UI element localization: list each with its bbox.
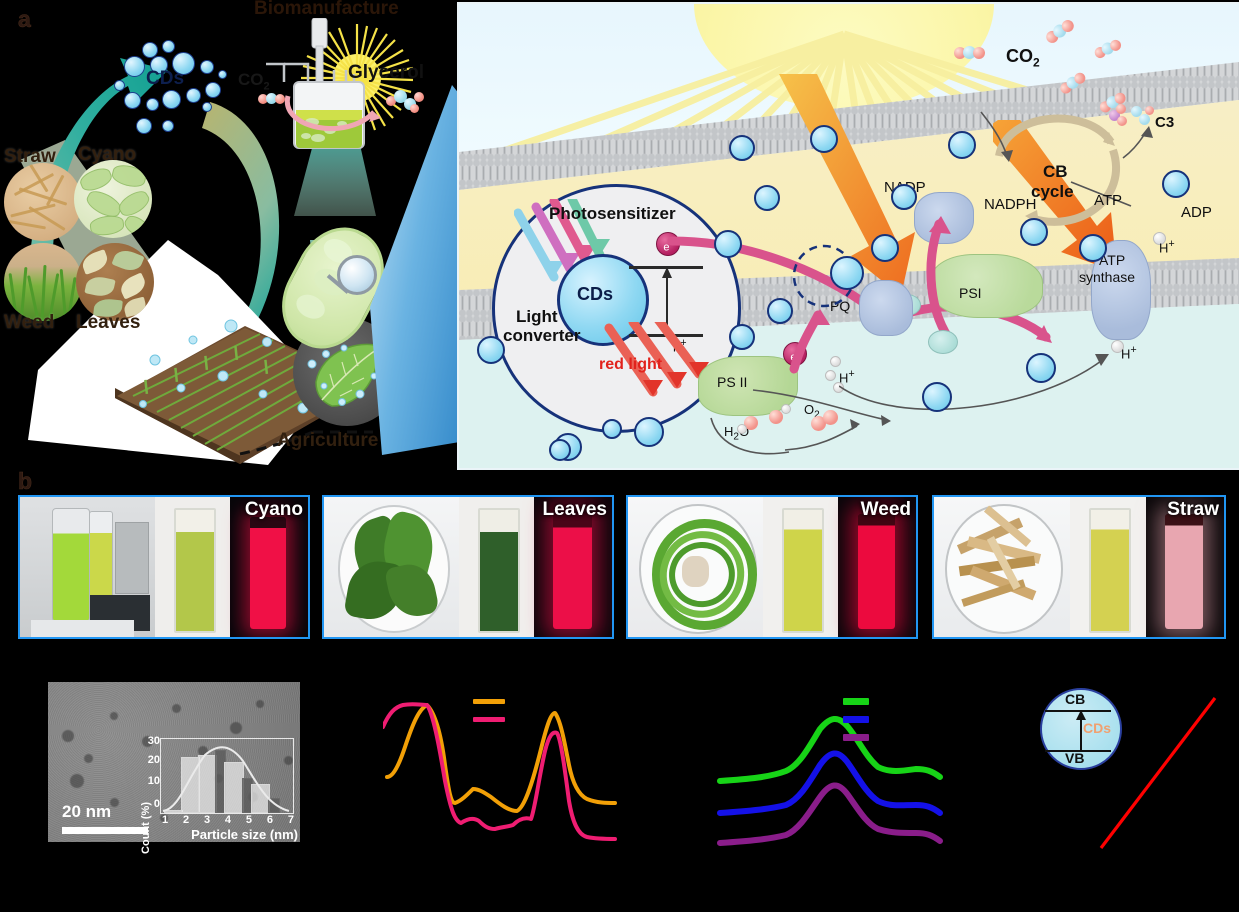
histogram-ylabel: Count (%) bbox=[140, 802, 152, 854]
hydrogen-atom-1 bbox=[737, 424, 747, 434]
cb-label: CB bbox=[1065, 691, 1085, 707]
cd-nanoparticle-13 bbox=[1026, 353, 1056, 383]
photo-photobioreactor bbox=[20, 497, 155, 637]
histogram-xlabel: Particle size (nm) bbox=[191, 827, 298, 842]
legend-key-magenta bbox=[473, 717, 505, 722]
panel-a-right-photosynthesis: Photosensitizer CDs e- h+ Light converte… bbox=[457, 2, 1239, 470]
panel-b-tag-leaves: Leaves bbox=[543, 499, 607, 521]
glycerol-molecule-cluster bbox=[386, 88, 426, 114]
panel-b-tag-cyano: Cyano bbox=[245, 499, 303, 521]
panel-a-left-biocycle: a bbox=[0, 0, 460, 470]
cb-cycle-label-1: CB bbox=[1043, 162, 1068, 182]
cd-nanoparticle-11 bbox=[891, 184, 917, 210]
atp-label: ATP bbox=[1094, 192, 1122, 209]
histogram-ytick-30: 30 bbox=[148, 735, 160, 747]
chart-absorption-emission bbox=[383, 685, 618, 865]
photo-cuvette-daylight bbox=[1070, 497, 1145, 637]
oxygen-molecule-2 bbox=[823, 410, 838, 425]
stacked-spectra-svg bbox=[640, 685, 960, 865]
panel-b-cell-leaves[interactable]: Leaves bbox=[322, 495, 614, 639]
legend-key-orange bbox=[473, 699, 505, 704]
histogram-xticks: 1 2 3 4 5 6 7 bbox=[162, 814, 294, 826]
biomanufacture-title: Biomanufacture bbox=[254, 0, 399, 20]
light-converter-label-1: Light bbox=[516, 307, 558, 327]
light-converter-label-2: converter bbox=[503, 326, 580, 346]
source-image-cyano bbox=[74, 160, 152, 238]
bioreactor-illustration bbox=[250, 18, 430, 153]
histogram-inset-frame bbox=[160, 738, 294, 814]
adp-label: ADP bbox=[1181, 204, 1212, 221]
bottom-characterization-charts: 20 nm Count (%) 30 20 10 0 1 2 3 4 5 6 bbox=[0, 660, 1239, 912]
cd-nanoparticle-9 bbox=[810, 125, 838, 153]
cd-nanoparticle-4 bbox=[714, 230, 742, 258]
tem-scale-bar-label: 20 nm bbox=[62, 802, 111, 822]
hydrogen-atom-2 bbox=[781, 404, 791, 414]
panel-b-photo-grid: b Cyano Leaves bbox=[0, 468, 1239, 653]
cd-nanoparticle-19 bbox=[922, 382, 952, 412]
glycerol-label: Glycerol bbox=[348, 62, 424, 84]
photo-petri-leaves bbox=[324, 497, 459, 637]
cd-nanoparticle-10 bbox=[871, 234, 899, 262]
cds-cluster-label: CDs bbox=[146, 68, 184, 90]
cds-sphere-label: CDs bbox=[577, 284, 613, 305]
cds-nanoparticle-cluster: CDs bbox=[110, 40, 240, 145]
cd-nanoparticle-5 bbox=[477, 336, 505, 364]
agriculture-title: Agriculture bbox=[277, 430, 378, 452]
psi-electron-arrow bbox=[899, 194, 1009, 354]
cd-nanoparticle-1 bbox=[830, 256, 864, 290]
water-molecule-2 bbox=[769, 410, 783, 424]
histogram-ytick-10: 10 bbox=[148, 775, 160, 787]
photo-cuvette-daylight bbox=[459, 497, 534, 637]
panel-b-cell-weed[interactable]: Weed bbox=[626, 495, 918, 639]
panel-b-letter: b bbox=[18, 468, 32, 495]
cd-nanoparticle-14 bbox=[1079, 234, 1107, 262]
cb-cycle-label-2: cycle bbox=[1031, 182, 1074, 202]
cd-nanoparticle-12 bbox=[948, 131, 976, 159]
photo-petri-straw bbox=[934, 497, 1070, 637]
photo-petri-weed bbox=[628, 497, 763, 637]
source-label-weed: Weed bbox=[4, 312, 54, 334]
histogram-gaussian-fit bbox=[161, 739, 293, 813]
co2-molecule-left bbox=[258, 92, 286, 108]
source-image-straw bbox=[4, 163, 82, 241]
legend-key-green bbox=[843, 698, 869, 705]
co2-label-left: CO2 bbox=[238, 70, 270, 92]
co2-molecule-a bbox=[954, 46, 986, 60]
cd-nanoparticle-18 bbox=[729, 324, 755, 350]
legend-key-purple bbox=[843, 734, 869, 741]
panel-a-letter: a bbox=[18, 6, 31, 33]
cd-nanoparticle-15 bbox=[1020, 218, 1048, 246]
chart-stacked-spectra bbox=[640, 685, 960, 865]
panel-b-tag-straw: Straw bbox=[1167, 499, 1219, 521]
tem-scale-bar bbox=[62, 827, 148, 834]
source-label-straw: Straw bbox=[4, 146, 56, 168]
panel-b-cell-straw[interactable]: Straw bbox=[932, 495, 1226, 639]
chart-tauc-plot: CB VB CDs bbox=[995, 680, 1239, 870]
cd-nanoparticle-17 bbox=[549, 439, 571, 461]
band-gap-arrow bbox=[1073, 708, 1089, 754]
proton-dot-2 bbox=[825, 370, 836, 381]
photo-cuvette-daylight bbox=[155, 497, 230, 637]
atp-synthase-label-2: synthase bbox=[1079, 269, 1135, 285]
proton-gradient-arrow bbox=[839, 340, 1139, 430]
c3-molecule-cluster bbox=[1109, 104, 1157, 128]
panel-b-tag-weed: Weed bbox=[861, 499, 911, 521]
cd-nanoparticle-2 bbox=[754, 185, 780, 211]
cd-nanoparticle-16 bbox=[1162, 170, 1190, 198]
c3-label: C3 bbox=[1155, 114, 1174, 131]
histogram-ytick-0: 0 bbox=[154, 798, 160, 810]
cd-nanoparticle-7 bbox=[634, 417, 664, 447]
chart-tem-image: 20 nm Count (%) 30 20 10 0 1 2 3 4 5 6 bbox=[48, 682, 300, 842]
photo-cuvette-daylight bbox=[763, 497, 838, 637]
histogram-ytick-20: 20 bbox=[148, 754, 160, 766]
cd-nanoparticle-3 bbox=[729, 135, 755, 161]
co2-label-right: CO2 bbox=[1006, 46, 1040, 70]
cd-nanoparticle-8 bbox=[602, 419, 622, 439]
legend-key-blue bbox=[843, 716, 869, 723]
source-label-cyano: Cyano bbox=[78, 144, 136, 166]
proton-label-2: H+ bbox=[1159, 238, 1175, 255]
cd-nanoparticle-20 bbox=[767, 298, 793, 324]
spectra-svg bbox=[383, 685, 618, 865]
panel-b-cell-cyano[interactable]: Cyano bbox=[18, 495, 310, 639]
